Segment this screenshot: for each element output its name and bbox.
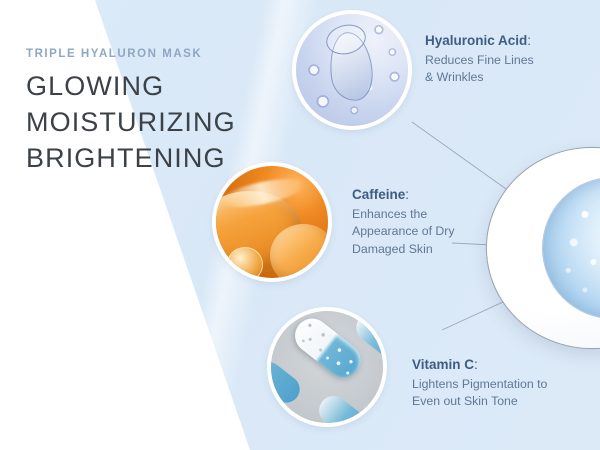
ingredient-image-caffeine bbox=[216, 166, 328, 278]
ingredient-image-hyaluronic-acid bbox=[296, 14, 408, 126]
callout-caffeine: Caffeine: Enhances the Appearance of Dry… bbox=[352, 186, 455, 258]
oil-bubble-small bbox=[227, 247, 263, 278]
description-line: Lightens Pigmentation to bbox=[412, 376, 547, 393]
callout-colon: : bbox=[474, 357, 478, 372]
callout-title-text: Hyaluronic Acid bbox=[425, 33, 527, 48]
callout-colon: : bbox=[527, 33, 531, 48]
description-line: Appearance of Dry bbox=[352, 223, 455, 240]
callout-vitamin-c: Vitamin C: Lightens Pigmentation to Even… bbox=[412, 356, 547, 411]
callout-description-vitamin-c: Lightens Pigmentation to Even out Skin T… bbox=[412, 376, 547, 411]
description-line: Reduces Fine Lines bbox=[425, 52, 534, 69]
callout-hyaluronic-acid: Hyaluronic Acid: Reduces Fine Lines & Wr… bbox=[425, 32, 534, 87]
callout-title-text: Vitamin C bbox=[412, 357, 474, 372]
headline-line-3: BRIGHTENING bbox=[26, 141, 266, 177]
callout-description-caffeine: Enhances the Appearance of Dry Damaged S… bbox=[352, 206, 455, 258]
callout-title-hyaluronic-acid: Hyaluronic Acid: bbox=[425, 32, 534, 51]
brand-eyebrow: TRIPLE HYALURON MASK bbox=[26, 48, 266, 60]
headline-line-1: GLOWING bbox=[26, 69, 266, 105]
infographic-canvas: TRIPLE HYALURON MASK GLOWING MOISTURIZIN… bbox=[0, 0, 600, 450]
callout-colon: : bbox=[405, 187, 409, 202]
headline-block: TRIPLE HYALURON MASK GLOWING MOISTURIZIN… bbox=[26, 48, 266, 177]
callout-title-caffeine: Caffeine: bbox=[352, 186, 455, 205]
headline-line-2: MOISTURIZING bbox=[26, 105, 266, 141]
description-line: Enhances the bbox=[352, 206, 455, 223]
callout-title-text: Caffeine bbox=[352, 187, 405, 202]
page-title: GLOWING MOISTURIZING BRIGHTENING bbox=[26, 69, 266, 177]
description-line: Damaged Skin bbox=[352, 241, 455, 258]
jar-gel-core bbox=[543, 178, 600, 318]
ingredient-image-vitamin-c bbox=[271, 311, 383, 423]
callout-title-vitamin-c: Vitamin C: bbox=[412, 356, 547, 375]
description-line: Even out Skin Tone bbox=[412, 393, 547, 410]
description-line: & Wrinkles bbox=[425, 69, 534, 86]
callout-description-hyaluronic-acid: Reduces Fine Lines & Wrinkles bbox=[425, 52, 534, 87]
